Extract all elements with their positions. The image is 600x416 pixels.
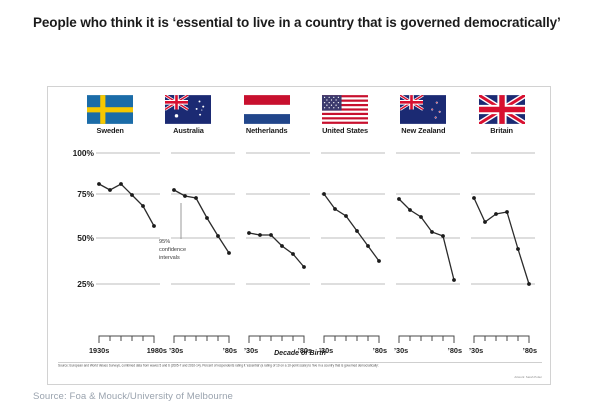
- artwork-credit: Artwork: Sarah Potter: [514, 375, 542, 379]
- netherlands-flag: [244, 95, 290, 124]
- chart-card: Sweden: [47, 86, 551, 385]
- plot-area: 100% 75% 50% 25%: [48, 147, 552, 347]
- panel-britain: [471, 147, 535, 332]
- country-label: United States: [322, 126, 368, 135]
- y-tick-25: 25%: [77, 279, 94, 289]
- x-axis-united-states: ’30s ’80s: [321, 335, 385, 343]
- x-axis-australia: ’30s ’80s: [171, 335, 235, 343]
- ci-line-3: intervals: [159, 255, 186, 263]
- x-axis-new-zealand: ’30s ’80s: [396, 335, 460, 343]
- country-label: New Zealand: [401, 126, 445, 135]
- country-header-netherlands: Netherlands: [228, 95, 306, 141]
- country-label: Netherlands: [246, 126, 288, 135]
- y-tick-100: 100%: [73, 148, 94, 158]
- y-tick-75: 75%: [77, 189, 94, 199]
- panel-sweden: [96, 147, 160, 332]
- confidence-interval-annotation: 95% confidence intervals: [159, 239, 186, 263]
- chart-footnote: Source: European and World Values Survey…: [58, 364, 544, 368]
- x-axis-netherlands: ’30s ’80s: [246, 335, 310, 343]
- country-label: Britain: [490, 126, 513, 135]
- country-header-united-states: United States: [306, 95, 384, 141]
- ci-line-2: confidence: [159, 247, 186, 255]
- new-zealand-flag: [400, 95, 446, 124]
- page-title: People who think it is ‘essential to liv…: [33, 13, 573, 34]
- ci-line-1: 95%: [159, 239, 186, 247]
- x-axis-sweden: 1930s 1980s: [96, 335, 160, 343]
- united-states-flag: [322, 95, 368, 124]
- country-label: Sweden: [96, 126, 123, 135]
- x-axis-row: 1930s 1980s ’30s ’80s ’30s ’80s: [96, 335, 546, 361]
- y-axis-labels: 100% 75% 50% 25%: [48, 147, 94, 332]
- country-label: Australia: [173, 126, 204, 135]
- sweden-flag: [87, 95, 133, 124]
- country-header-new-zealand: New Zealand: [384, 95, 462, 141]
- footnote-divider: [58, 362, 542, 363]
- panel-netherlands: [246, 147, 310, 332]
- x-axis-title: Decade of Birth: [48, 350, 552, 357]
- australia-flag: [165, 95, 211, 124]
- country-header-britain: Britain: [462, 95, 540, 141]
- country-header-sweden: Sweden: [71, 95, 149, 141]
- x-axis-britain: ’30s ’80s: [471, 335, 535, 343]
- country-header-australia: Australia: [149, 95, 227, 141]
- britain-flag: [479, 95, 525, 124]
- panel-united-states: [321, 147, 385, 332]
- panel-new-zealand: [396, 147, 460, 332]
- country-flags-row: Sweden: [71, 95, 541, 141]
- screenshot-root: People who think it is ‘essential to liv…: [0, 0, 600, 416]
- source-caption: Source: Foa & Mouck/University of Melbou…: [33, 391, 233, 402]
- y-tick-50: 50%: [77, 233, 94, 243]
